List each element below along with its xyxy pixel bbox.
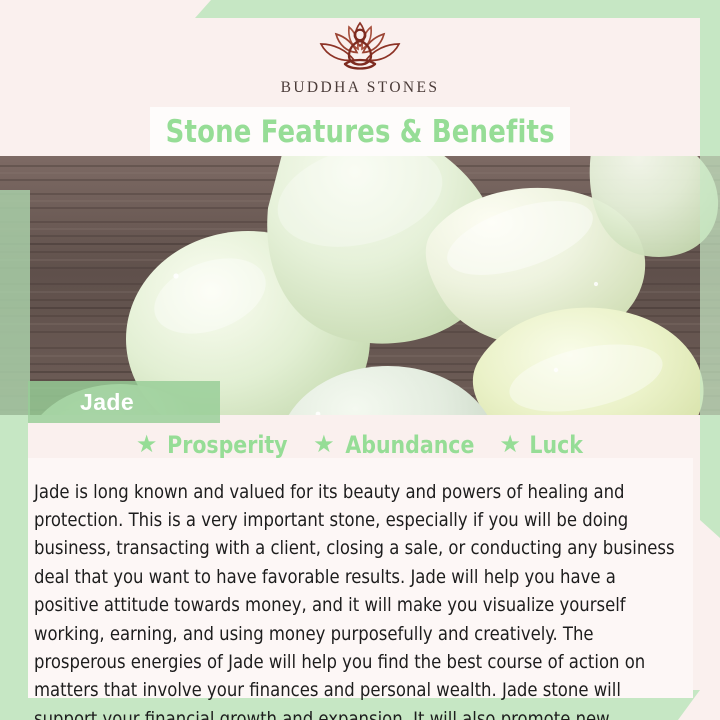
page-title: Stone Features & Benefits [165, 114, 554, 150]
description-text: Jade is long known and valued for its be… [34, 479, 675, 720]
title-banner: Stone Features & Benefits [150, 107, 570, 156]
star-icon: ★ [313, 433, 335, 457]
description-card: Jade is long known and valued for its be… [28, 458, 693, 698]
lotus-meditation-icon [308, 14, 412, 76]
benefit-item-luck: ★ Luck [499, 431, 584, 459]
decorative-band-left-photo [0, 190, 30, 415]
benefit-item-abundance: ★ Abundance [313, 431, 477, 459]
brand-name: BUDDHA STONES [281, 79, 440, 97]
star-icon: ★ [499, 433, 521, 457]
brand-header: BUDDHA STONES [0, 0, 720, 110]
stone-info-card: BUDDHA STONES [0, 0, 720, 720]
stone-name: Jade [28, 389, 134, 416]
benefit-label: Luck [529, 431, 582, 459]
stone-name-tag: Jade [28, 381, 220, 423]
star-icon: ★ [136, 433, 158, 457]
benefit-item-prosperity: ★ Prosperity [136, 431, 291, 459]
benefit-label: Abundance [345, 431, 474, 459]
benefit-label: Prosperity [168, 431, 288, 459]
stone-photo [0, 156, 720, 415]
benefits-row: ★ Prosperity ★ Abundance ★ Luck [0, 428, 720, 462]
